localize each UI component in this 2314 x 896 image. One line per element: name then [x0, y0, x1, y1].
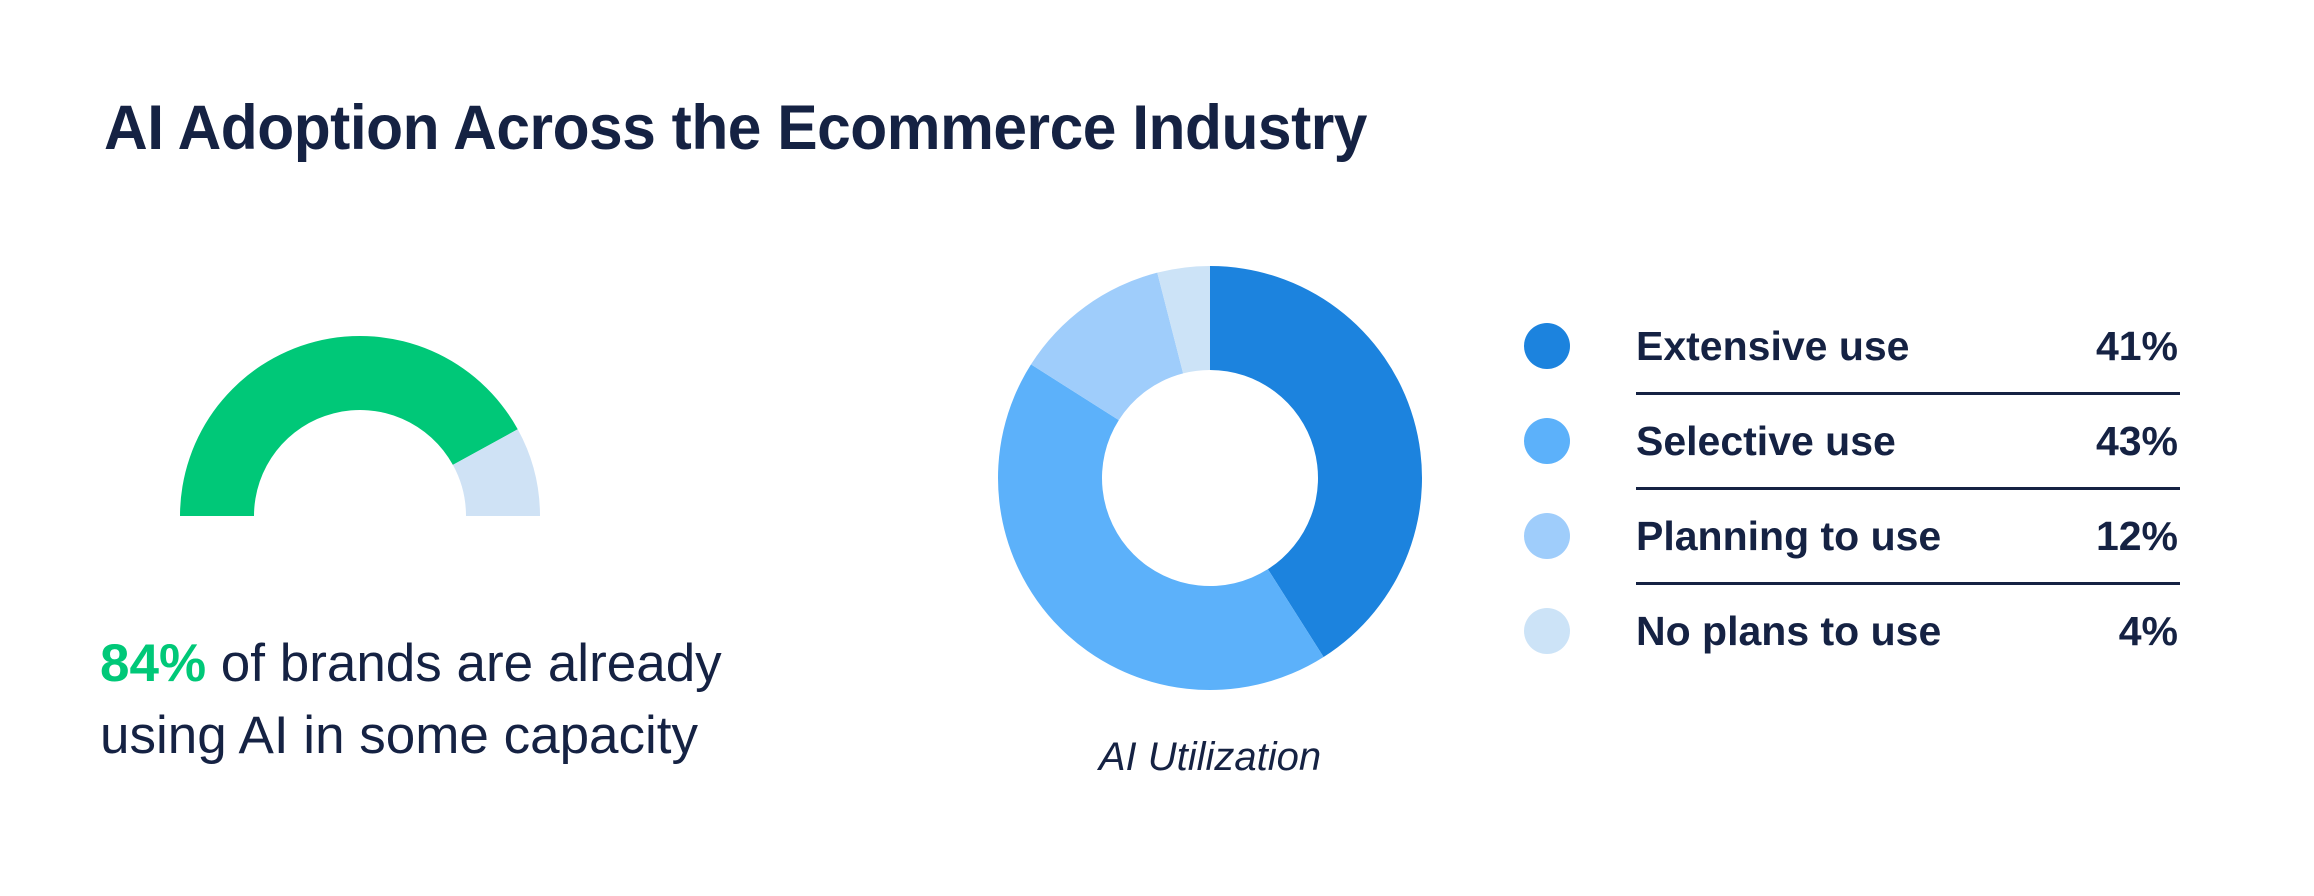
- legend-color-dot: [1524, 323, 1570, 369]
- donut-chart-caption: AI Utilization: [990, 735, 1430, 780]
- legend-label: No plans to use: [1636, 608, 2119, 655]
- donut-svg: [990, 258, 1430, 698]
- gauge-svg: [100, 250, 620, 550]
- gauge-caption: 84% of brands are already using AI in so…: [100, 628, 920, 772]
- legend-label: Planning to use: [1636, 513, 2096, 560]
- legend-label: Extensive use: [1636, 323, 2096, 370]
- donut-chart: [990, 258, 1430, 708]
- legend-row-planning-to-use[interactable]: Planning to use12%: [1524, 490, 2184, 582]
- legend-color-dot: [1524, 418, 1570, 464]
- legend: Extensive use41%Selective use43%Planning…: [1524, 300, 2184, 677]
- legend-label: Selective use: [1636, 418, 2096, 465]
- gauge-caption-line-1: of brands are already: [206, 634, 722, 693]
- gauge-chart: [100, 250, 620, 550]
- legend-value: 41%: [2096, 323, 2184, 370]
- legend-value: 43%: [2096, 418, 2184, 465]
- page-title: AI Adoption Across the Ecommerce Industr…: [104, 92, 1367, 164]
- donut-segment-selective-use: [998, 364, 1324, 690]
- gauge-value: 84%: [100, 634, 206, 693]
- legend-value: 12%: [2096, 513, 2184, 560]
- legend-row-extensive-use[interactable]: Extensive use41%: [1524, 300, 2184, 392]
- legend-color-dot: [1524, 513, 1570, 559]
- legend-color-dot: [1524, 608, 1570, 654]
- gauge-caption-line-2: using AI in some capacity: [100, 706, 698, 765]
- legend-row-selective-use[interactable]: Selective use43%: [1524, 395, 2184, 487]
- legend-row-no-plans-to-use[interactable]: No plans to use4%: [1524, 585, 2184, 677]
- legend-value: 4%: [2119, 608, 2184, 655]
